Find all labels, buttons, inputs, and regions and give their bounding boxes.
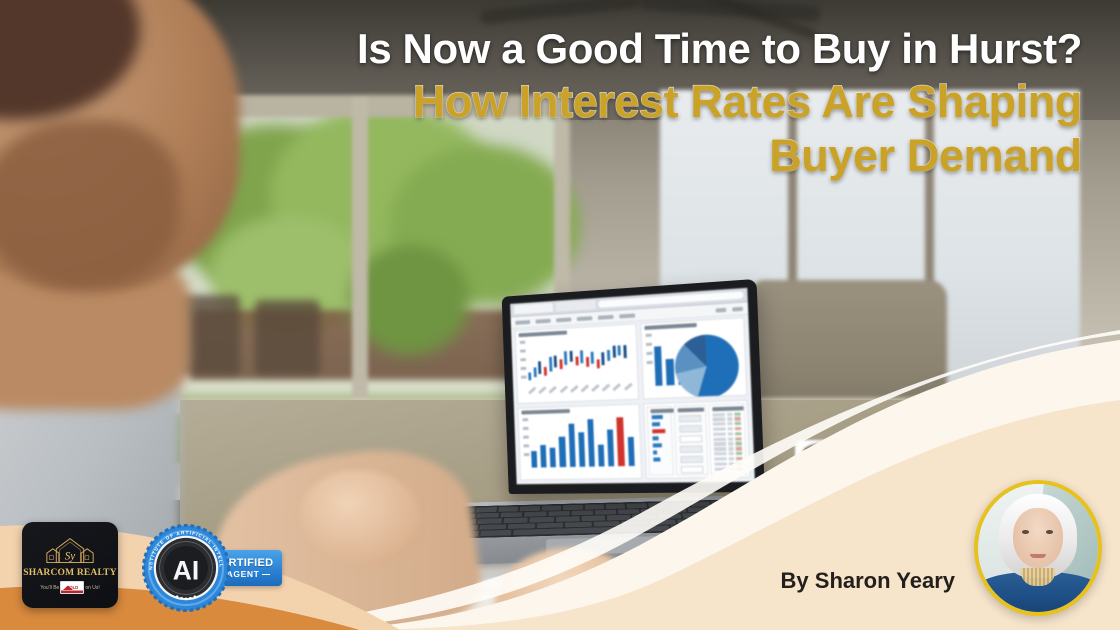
avatar-mouth: [1030, 554, 1046, 558]
ai-certified-agent-badge[interactable]: CERTIFIED AGENT AI KREM INSTITUTE OF: [142, 524, 284, 612]
logo-company-name: SHARCOM REALTY: [23, 568, 117, 578]
logo-tagline: You'll Be SOLD on Us!: [40, 581, 100, 594]
avatar-face: [1013, 508, 1063, 568]
sharcom-realty-logo[interactable]: Sy SHARCOM REALTY You'll Be SOLD on Us!: [22, 522, 118, 608]
avatar-eye-right: [1046, 530, 1053, 534]
man-beard: [0, 120, 180, 290]
author-avatar[interactable]: [974, 480, 1102, 616]
avatar-eye-left: [1022, 530, 1029, 534]
headline-line-3: Buyer Demand: [252, 133, 1082, 178]
blog-banner: Is Now a Good Time to Buy in Hurst? How …: [0, 0, 1120, 630]
headline-block: Is Now a Good Time to Buy in Hurst? How …: [252, 28, 1082, 187]
headline-line-1: Is Now a Good Time to Buy in Hurst?: [252, 28, 1082, 70]
ai-institute-seal-icon: AI KREM INSTITUTE OF ARTIFICIAL INTELLIG…: [142, 524, 230, 612]
tagline-after: on Us!: [85, 585, 99, 591]
headline-line-2: How Interest Rates Are Shaping: [252, 79, 1082, 124]
svg-text:Sy: Sy: [65, 551, 76, 563]
seal-center-label: AI: [173, 556, 199, 586]
tagline-before: You'll Be: [40, 585, 59, 591]
ceiling-fan-blade-icon: [480, 0, 641, 24]
sold-sign-icon: SOLD: [60, 581, 84, 594]
sold-sign-label: SOLD: [66, 585, 78, 590]
byline: By Sharon Yeary: [781, 568, 955, 594]
house-arch-monogram-icon: Sy: [44, 536, 96, 566]
